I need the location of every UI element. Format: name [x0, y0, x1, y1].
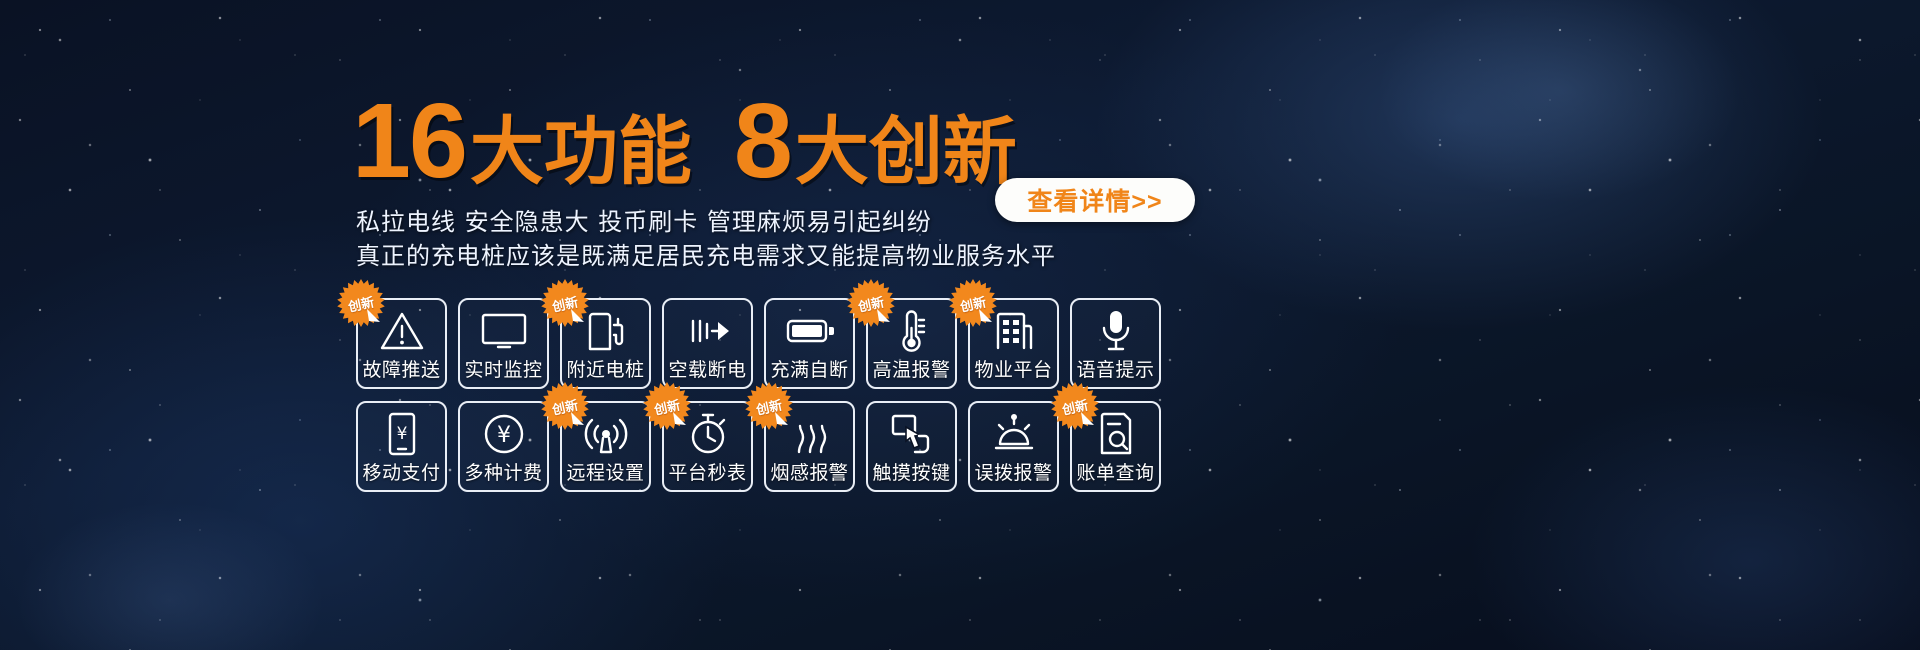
yuan-coin-icon: ¥ — [460, 403, 547, 464]
headline-number-1: 16 — [352, 88, 466, 194]
building-icon — [970, 300, 1057, 361]
alarm-bell-icon — [970, 403, 1057, 464]
feature-card-label: 触摸按键 — [872, 464, 950, 490]
feature-card[interactable]: 创新物业平台 — [968, 298, 1059, 389]
bill-search-icon — [1072, 403, 1159, 464]
feature-row-2: ¥移动支付¥多种计费创新远程设置创新平台秒表创新烟感报警触摸按键误拨报警创新账单… — [356, 401, 1161, 492]
feature-card[interactable]: 创新账单查询 — [1070, 401, 1161, 492]
feature-card-label: 平台秒表 — [668, 464, 746, 490]
svg-text:¥: ¥ — [396, 424, 407, 444]
svg-text:¥: ¥ — [497, 423, 511, 448]
feature-card[interactable]: 创新高温报警 — [866, 298, 957, 389]
feature-card[interactable]: 创新烟感报警 — [764, 401, 855, 492]
wireless-signal-icon — [562, 403, 649, 464]
plug-disconnect-icon — [664, 300, 751, 361]
headline-number-2: 8 — [734, 88, 791, 194]
subtitle-line-2: 真正的充电桩应该是既满足居民充电需求又能提高物业服务水平 — [356, 239, 1056, 273]
feature-card[interactable]: 创新远程设置 — [560, 401, 651, 492]
feature-card[interactable]: 触摸按键 — [866, 401, 957, 492]
charging-pile-icon — [562, 300, 649, 361]
feature-grid: 创新故障推送实时监控创新附近电桩空载断电充满自断创新高温报警创新物业平台语音提示… — [356, 298, 1161, 504]
feature-card-label: 语音提示 — [1076, 361, 1154, 387]
feature-card-label: 空载断电 — [668, 361, 746, 387]
feature-card[interactable]: 误拨报警 — [968, 401, 1059, 492]
view-details-button[interactable]: 查看详情>> — [995, 178, 1195, 222]
feature-card-label: 附近电桩 — [566, 361, 644, 387]
feature-card[interactable]: 创新附近电桩 — [560, 298, 651, 389]
feature-card[interactable]: 空载断电 — [662, 298, 753, 389]
feature-card[interactable]: 创新故障推送 — [356, 298, 447, 389]
feature-card-label: 故障推送 — [362, 361, 440, 387]
touch-hand-icon — [868, 403, 955, 464]
thermometer-icon — [868, 300, 955, 361]
feature-card-label: 误拨报警 — [974, 464, 1052, 490]
headline-text-1: 大功能 — [470, 115, 692, 189]
feature-card-label: 远程设置 — [566, 464, 644, 490]
feature-card[interactable]: 创新平台秒表 — [662, 401, 753, 492]
feature-card[interactable]: 充满自断 — [764, 298, 855, 389]
feature-card[interactable]: ¥移动支付 — [356, 401, 447, 492]
page-title: 16 大功能 8 大创新 — [352, 88, 1017, 194]
feature-card[interactable]: ¥多种计费 — [458, 401, 549, 492]
stopwatch-icon — [664, 403, 751, 464]
promo-banner: 16 大功能 8 大创新 私拉电线 安全隐患大 投币刷卡 管理麻烦易引起纠纷 真… — [0, 0, 1920, 650]
feature-card-label: 账单查询 — [1076, 464, 1154, 490]
subtitle: 私拉电线 安全隐患大 投币刷卡 管理麻烦易引起纠纷 真正的充电桩应该是既满足居民… — [356, 205, 1056, 273]
mobile-payment-icon: ¥ — [358, 403, 445, 464]
headline-text-2: 大创新 — [795, 115, 1017, 189]
feature-card-label: 物业平台 — [974, 361, 1052, 387]
monitor-waveform-icon — [460, 300, 547, 361]
feature-card[interactable]: 语音提示 — [1070, 298, 1161, 389]
warning-triangle-icon — [358, 300, 445, 361]
feature-card-label: 实时监控 — [464, 361, 542, 387]
microphone-icon — [1072, 300, 1159, 361]
battery-full-icon — [766, 300, 853, 361]
feature-card-label: 烟感报警 — [770, 464, 848, 490]
feature-row-1: 创新故障推送实时监控创新附近电桩空载断电充满自断创新高温报警创新物业平台语音提示 — [356, 298, 1161, 389]
feature-card-label: 充满自断 — [770, 361, 848, 387]
feature-card-label: 移动支付 — [362, 464, 440, 490]
feature-card[interactable]: 实时监控 — [458, 298, 549, 389]
feature-card-label: 多种计费 — [464, 464, 542, 490]
smoke-sensor-icon — [766, 403, 853, 464]
subtitle-line-1: 私拉电线 安全隐患大 投币刷卡 管理麻烦易引起纠纷 — [356, 205, 1056, 239]
feature-card-label: 高温报警 — [872, 361, 950, 387]
